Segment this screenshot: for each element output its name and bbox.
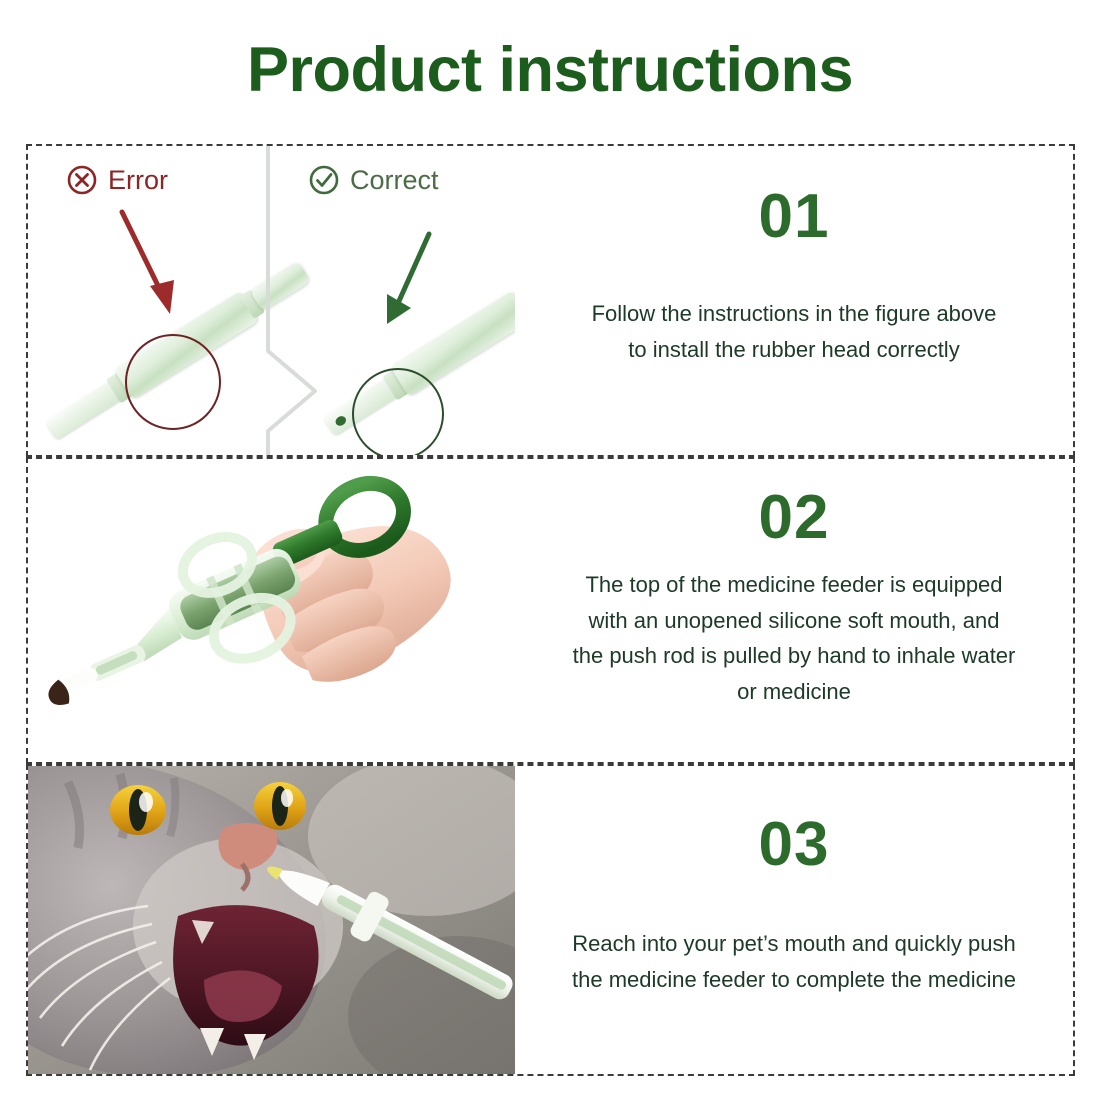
instruction-panels: Error Correct [26,144,1075,1076]
instruction-step-panel-3: 03 Reach into your pet’s mouth and quick… [26,764,1075,1076]
error-label-group: Error [66,164,168,196]
step-2-line-3: the push rod is pulled by hand to inhale… [573,638,1016,674]
step-1-number: 01 [759,186,830,248]
step-1-line-2: to install the rubber head correctly [592,332,997,368]
step-2-media-hand-feeder [28,459,515,762]
step-3-line-1: Reach into your pet’s mouth and quickly … [572,926,1016,962]
error-arrow-icon [112,206,192,321]
correct-arrow-icon [373,228,443,328]
cat-receiving-medicine-photo [28,766,515,1074]
step-2-number: 02 [759,487,830,549]
step-2-text-block: 02 The top of the medicine feeder is equ… [515,459,1073,762]
step-2-description: The top of the medicine feeder is equipp… [573,567,1016,710]
instruction-step-panel-1: Error Correct [26,144,1075,457]
error-highlight-circle [125,334,221,430]
step-1-line-1: Follow the instructions in the figure ab… [592,296,997,332]
step-3-media-cat-photo [28,766,515,1074]
circle-x-icon [66,164,98,196]
correct-label-group: Correct [308,164,439,196]
step-2-line-2: with an unopened silicone soft mouth, an… [573,603,1016,639]
correct-label-text: Correct [350,165,439,196]
step-3-text-block: 03 Reach into your pet’s mouth and quick… [515,766,1073,1074]
instruction-step-panel-2: 02 The top of the medicine feeder is equ… [26,457,1075,764]
step-1-text-block: 01 Follow the instructions in the figure… [515,146,1073,455]
step-3-line-2: the medicine feeder to complete the medi… [572,962,1016,998]
step-2-line-4: or medicine [573,674,1016,710]
correct-highlight-circle [352,368,444,455]
circle-check-icon [308,164,340,196]
step-1-description: Follow the instructions in the figure ab… [592,296,997,367]
step-2-line-1: The top of the medicine feeder is equipp… [573,567,1016,603]
hand-holding-feeder-illustration [28,459,515,762]
step-3-number: 03 [759,814,830,876]
error-label-text: Error [108,165,168,196]
page-title: Product instructions [0,34,1100,106]
step-1-media-error-correct: Error Correct [28,146,515,455]
step-3-description: Reach into your pet’s mouth and quickly … [572,926,1016,997]
